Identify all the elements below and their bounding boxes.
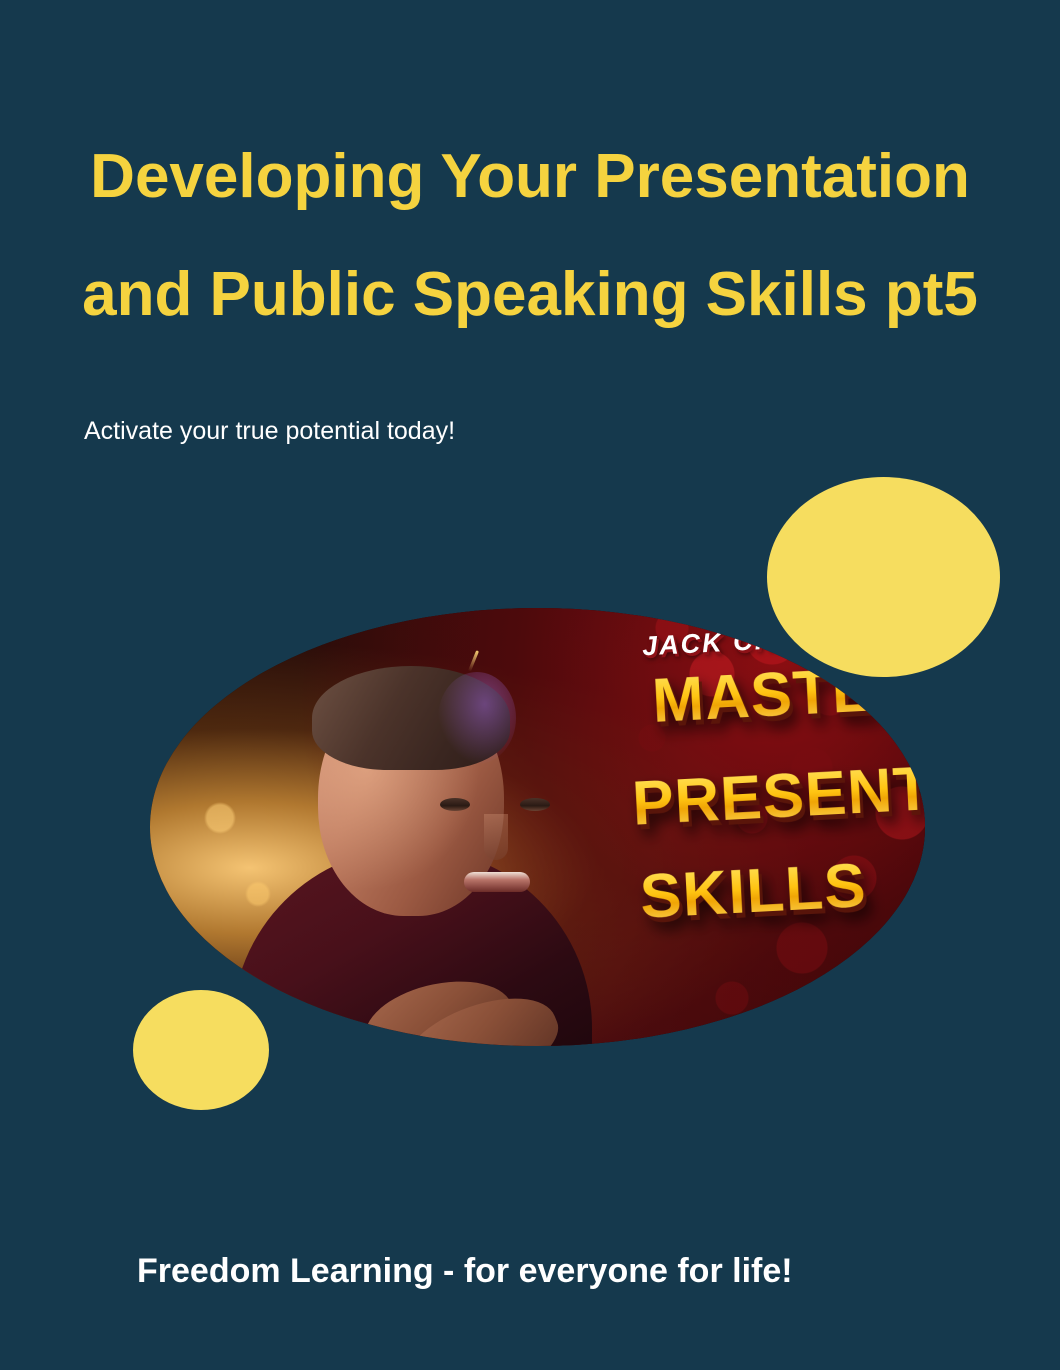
page-title: Developing Your Presentation and Public … xyxy=(0,118,1060,354)
title-line-1: Developing Your Presentation xyxy=(0,118,1060,236)
yellow-circle-bottom-left-icon xyxy=(133,990,269,1110)
poster-canvas: Developing Your Presentation and Public … xyxy=(0,0,1060,1370)
thumbnail-image: JACK CRAINE MASTERING PRESENTATION SKILL… xyxy=(150,608,925,1046)
video-thumbnail[interactable]: JACK CRAINE MASTERING PRESENTATION SKILL… xyxy=(150,608,925,1046)
thumbnail-text-group: JACK CRAINE MASTERING PRESENTATION SKILL… xyxy=(150,608,925,1046)
title-line-2: and Public Speaking Skills pt5 xyxy=(0,236,1060,354)
yellow-circle-top-right-icon xyxy=(767,477,1000,677)
thumbnail-headline-line-3: SKILLS xyxy=(638,850,868,933)
thumbnail-headline-line-2: PRESENTATION xyxy=(630,743,925,839)
thumbnail-part-label: PT5 xyxy=(910,946,925,1038)
footer-tagline: Freedom Learning - for everyone for life… xyxy=(137,1249,793,1293)
subtitle-text: Activate your true potential today! xyxy=(84,414,455,448)
